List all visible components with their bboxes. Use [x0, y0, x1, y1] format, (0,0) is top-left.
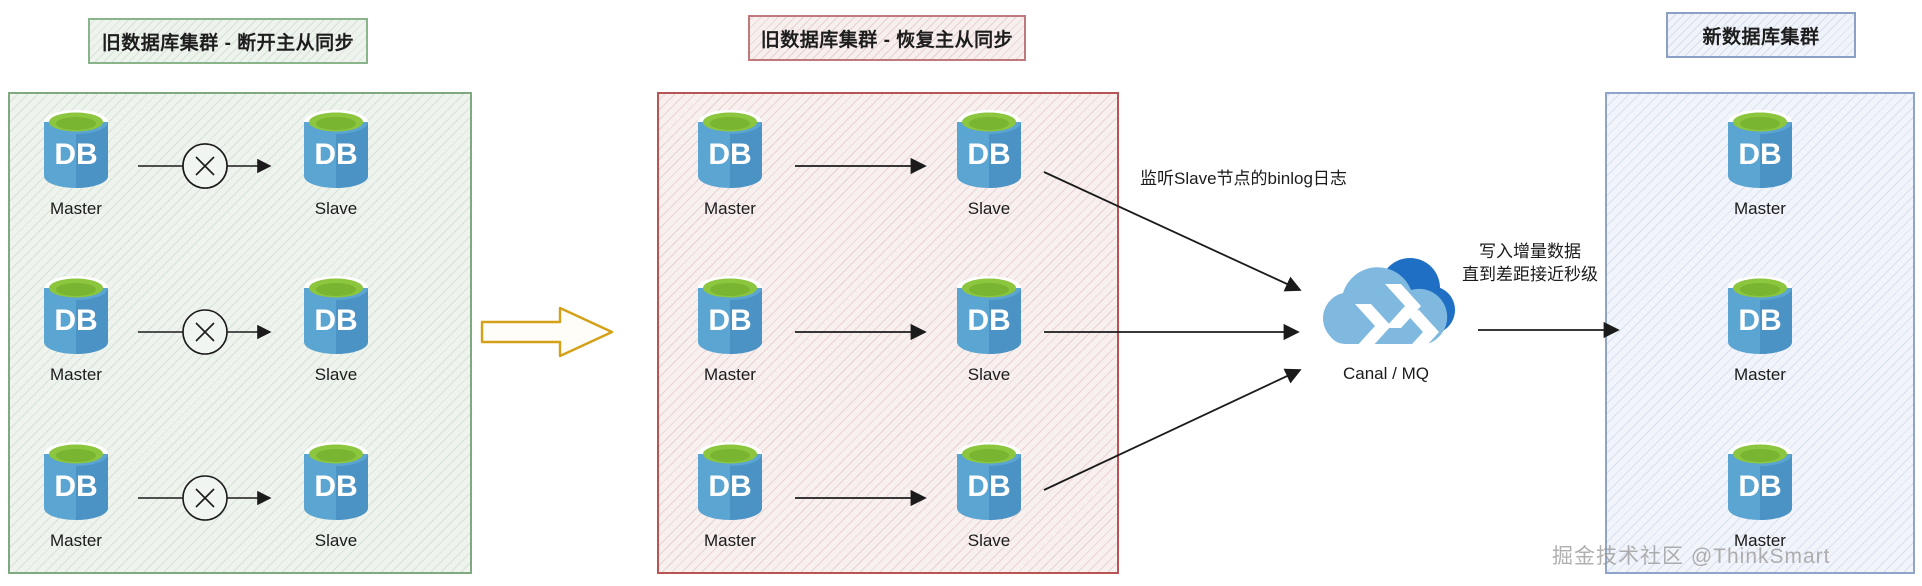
title-old-cluster-break-label: 旧数据库集群 - 断开主从同步 [102, 28, 354, 55]
db-label: Master [1706, 365, 1814, 385]
db-node-mid-slave-1: DB Slave [935, 108, 1043, 219]
cloud-chevron-icon [1309, 248, 1463, 360]
database-icon: DB [298, 440, 374, 526]
db-label: Slave [282, 531, 390, 551]
svg-text:DB: DB [1738, 138, 1781, 171]
db-node-mid-slave-3: DB Slave [935, 440, 1043, 551]
svg-text:DB: DB [314, 304, 357, 337]
db-node-right-master-1: DB Master [1706, 108, 1814, 219]
diagram-canvas: 旧数据库集群 - 断开主从同步 旧数据库集群 - 恢复主从同步 新数据库集群 D… [0, 0, 1922, 586]
database-icon: DB [692, 440, 768, 526]
svg-text:DB: DB [708, 470, 751, 503]
db-node-mid-slave-2: DB Slave [935, 274, 1043, 385]
title-new-cluster: 新数据库集群 [1666, 12, 1856, 58]
database-icon: DB [38, 274, 114, 360]
title-old-cluster-restore-label: 旧数据库集群 - 恢复主从同步 [761, 25, 1013, 52]
db-label: Slave [282, 365, 390, 385]
db-node-mid-master-3: DB Master [676, 440, 784, 551]
svg-text:DB: DB [1738, 304, 1781, 337]
svg-text:DB: DB [314, 138, 357, 171]
svg-text:DB: DB [1738, 470, 1781, 503]
database-icon: DB [298, 274, 374, 360]
database-icon: DB [692, 108, 768, 194]
database-icon: DB [1722, 440, 1798, 526]
db-node-left-master-3: DB Master [22, 440, 130, 551]
svg-text:DB: DB [967, 304, 1010, 337]
db-label: Slave [935, 199, 1043, 219]
svg-text:DB: DB [708, 304, 751, 337]
annotation-binlog: 监听Slave节点的binlog日志 [1140, 168, 1347, 191]
db-node-right-master-3: DB Master [1706, 440, 1814, 551]
db-label: Master [676, 199, 784, 219]
database-icon: DB [951, 274, 1027, 360]
db-node-left-master-2: DB Master [22, 274, 130, 385]
database-icon: DB [1722, 108, 1798, 194]
db-label: Slave [935, 531, 1043, 551]
db-label: Master [1706, 199, 1814, 219]
db-node-mid-master-1: DB Master [676, 108, 784, 219]
db-node-left-slave-2: DB Slave [282, 274, 390, 385]
svg-text:DB: DB [54, 138, 97, 171]
database-icon: DB [38, 440, 114, 526]
db-node-right-master-2: DB Master [1706, 274, 1814, 385]
canal-mq-label: Canal / MQ [1302, 364, 1470, 384]
db-label: Master [22, 365, 130, 385]
database-icon: DB [951, 108, 1027, 194]
db-label: Master [22, 531, 130, 551]
svg-text:DB: DB [54, 470, 97, 503]
db-label: Master [22, 199, 130, 219]
database-icon: DB [692, 274, 768, 360]
db-label: Slave [282, 199, 390, 219]
database-icon: DB [298, 108, 374, 194]
db-label: Master [676, 531, 784, 551]
canal-mq-node: Canal / MQ [1302, 248, 1470, 384]
db-label: Master [676, 365, 784, 385]
db-label: Slave [935, 365, 1043, 385]
svg-text:DB: DB [967, 138, 1010, 171]
db-node-left-slave-1: DB Slave [282, 108, 390, 219]
svg-text:DB: DB [54, 304, 97, 337]
database-icon: DB [951, 440, 1027, 526]
block-arrow-right-icon [482, 308, 612, 356]
database-icon: DB [1722, 274, 1798, 360]
title-new-cluster-label: 新数据库集群 [1702, 22, 1819, 49]
db-node-left-slave-3: DB Slave [282, 440, 390, 551]
database-icon: DB [38, 108, 114, 194]
annotation-write-incremental: 写入增量数据 直到差距接近秒级 [1462, 241, 1598, 287]
db-node-mid-master-2: DB Master [676, 274, 784, 385]
svg-text:DB: DB [708, 138, 751, 171]
svg-text:DB: DB [314, 470, 357, 503]
title-old-cluster-restore: 旧数据库集群 - 恢复主从同步 [748, 15, 1026, 61]
watermark: 掘金技术社区 @ThinkSmart [1552, 540, 1831, 570]
db-node-left-master-1: DB Master [22, 108, 130, 219]
svg-text:DB: DB [967, 470, 1010, 503]
title-old-cluster-break: 旧数据库集群 - 断开主从同步 [88, 18, 368, 64]
